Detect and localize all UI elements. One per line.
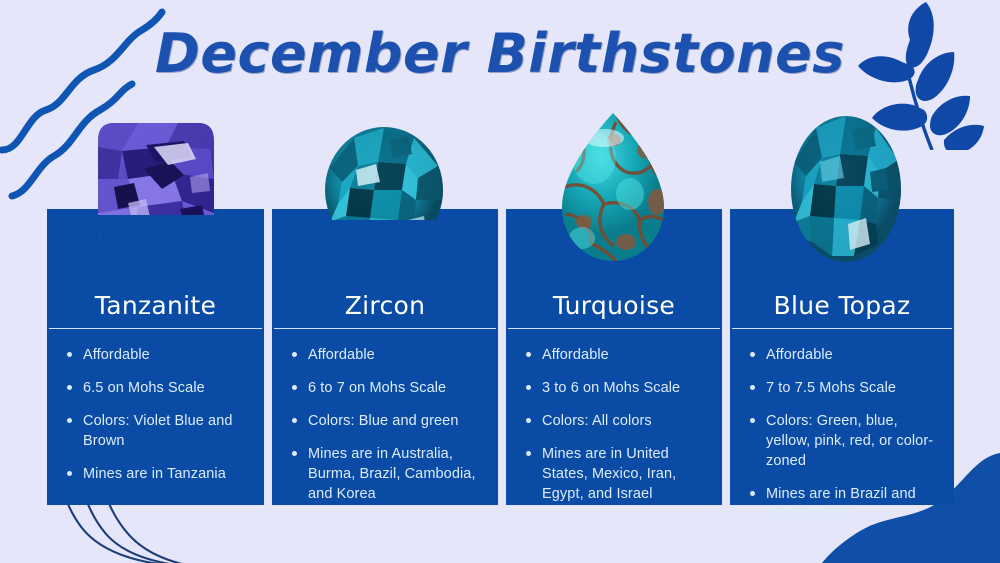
list-item: Affordable (744, 345, 944, 365)
list-item: Colors: All colors (520, 411, 712, 431)
gem-oval-brilliant-icon (320, 124, 448, 257)
list-item: Colors: Violet Blue and Brown (61, 411, 254, 451)
list-item: Affordable (286, 345, 488, 365)
fact-list: Affordable 6.5 on Mohs Scale Colors: Vio… (47, 329, 264, 484)
list-item: Affordable (520, 345, 712, 365)
fact-list: Affordable 3 to 6 on Mohs Scale Colors: … (506, 329, 722, 504)
gem-cushion-cut-icon (92, 117, 220, 250)
gem-oval-brilliant-icon (786, 112, 906, 267)
gem-pear-cabochon-icon (552, 110, 674, 265)
list-item: Mines are in Brazil and United States (744, 484, 944, 524)
poster-canvas: December Birthstones (0, 0, 1000, 563)
list-item: Colors: Green, blue, yellow, pink, red, … (744, 411, 944, 471)
gemstone-card-tanzanite: Tanzanite Affordable 6.5 on Mohs Scale C… (47, 209, 264, 505)
list-item: 6.5 on Mohs Scale (61, 378, 254, 398)
list-item: 7 to 7.5 Mohs Scale (744, 378, 944, 398)
list-item: Mines are in Australia, Burma, Brazil, C… (286, 444, 488, 504)
list-item: 6 to 7 on Mohs Scale (286, 378, 488, 398)
list-item: Mines are in United States, Mexico, Iran… (520, 444, 712, 504)
list-item: Affordable (61, 345, 254, 365)
list-item: Colors: Blue and green (286, 411, 488, 431)
page-title: December Birthstones (0, 22, 1000, 85)
list-item: 3 to 6 on Mohs Scale (520, 378, 712, 398)
fact-list: Affordable 7 to 7.5 Mohs Scale Colors: G… (730, 329, 954, 524)
list-item: Mines are in Tanzania (61, 464, 254, 484)
fact-list: Affordable 6 to 7 on Mohs Scale Colors: … (272, 329, 498, 504)
